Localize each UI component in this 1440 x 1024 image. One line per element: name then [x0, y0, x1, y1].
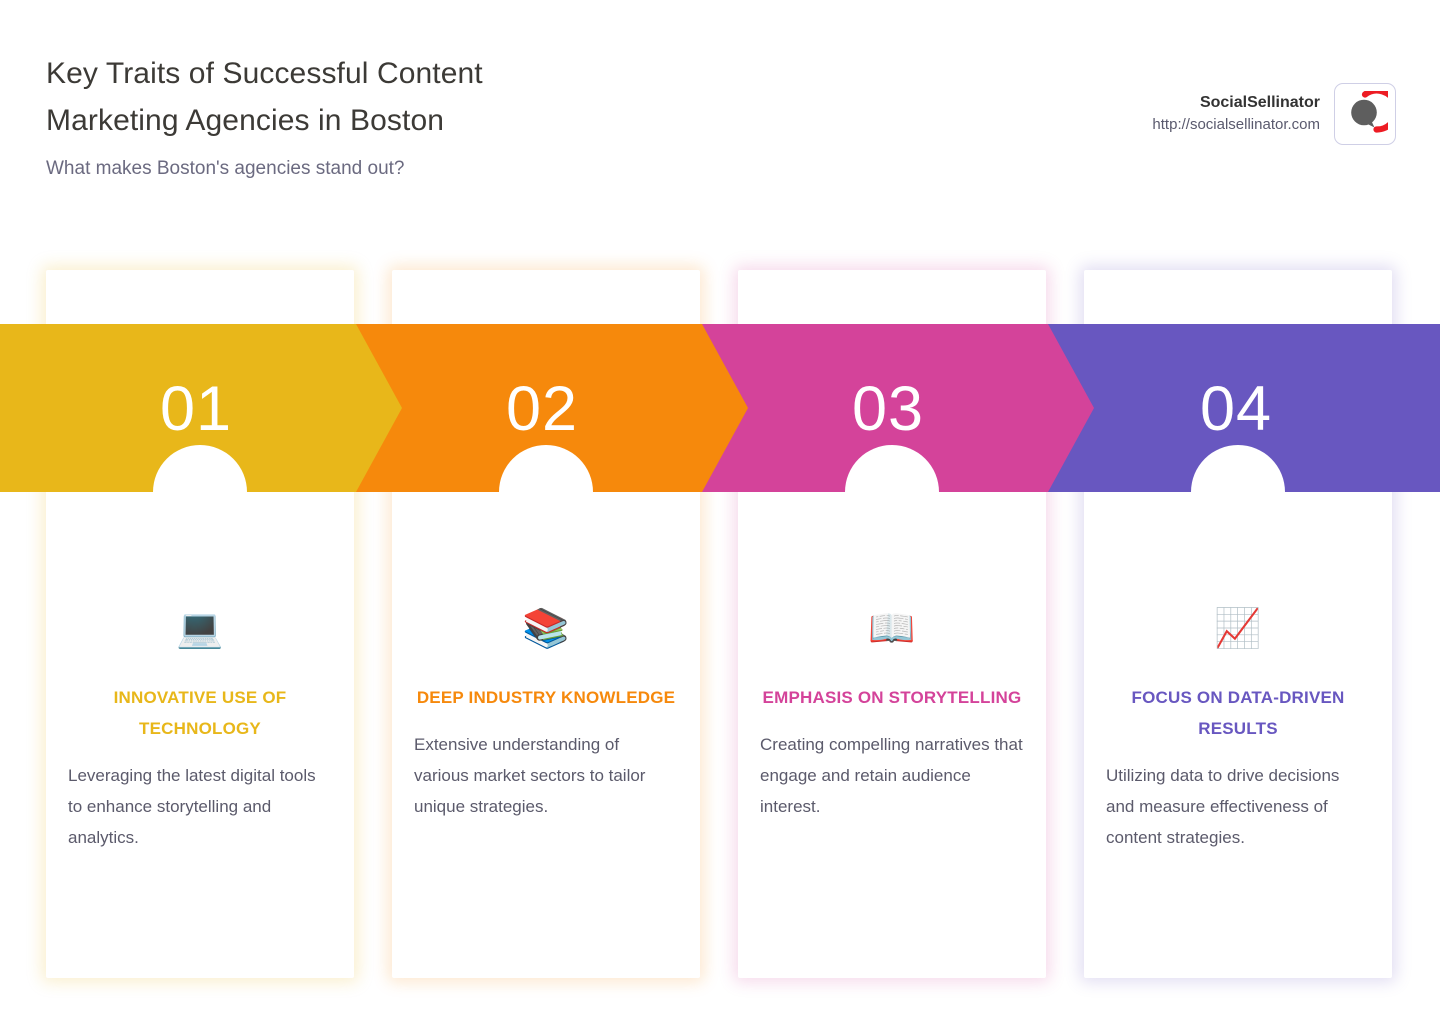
brand-block: SocialSellinator http://socialsellinator… — [1152, 83, 1396, 145]
step-card-4-heading: FOCUS ON DATA-DRIVEN RESULTS — [1106, 682, 1370, 744]
step-card-1-body: 💻 INNOVATIVE USE OF TECHNOLOGY Leveragin… — [46, 600, 354, 853]
page-title: Key Traits of Successful Content Marketi… — [46, 50, 806, 144]
cards-row: 💻 INNOVATIVE USE OF TECHNOLOGY Leveragin… — [0, 270, 1440, 982]
laptop-icon: 💻 — [68, 600, 332, 658]
step-card-4-text: Utilizing data to drive decisions and me… — [1106, 760, 1370, 853]
step-card-3[interactable]: 📖 EMPHASIS ON STORYTELLING Creating comp… — [738, 270, 1046, 978]
step-card-1-text: Leveraging the latest digital tools to e… — [68, 760, 332, 853]
page-title-line-2: Marketing Agencies in Boston — [46, 104, 444, 137]
title-block: Key Traits of Successful Content Marketi… — [46, 50, 806, 182]
speech-bubble-ring-icon — [1342, 91, 1388, 137]
step-card-4[interactable]: 📈 FOCUS ON DATA-DRIVEN RESULTS Utilizing… — [1084, 270, 1392, 978]
step-card-4-body: 📈 FOCUS ON DATA-DRIVEN RESULTS Utilizing… — [1084, 600, 1392, 853]
chart-increasing-icon: 📈 — [1106, 600, 1370, 658]
page-title-line-1: Key Traits of Successful Content — [46, 57, 483, 90]
step-card-2[interactable]: 📚 DEEP INDUSTRY KNOWLEDGE Extensive unde… — [392, 270, 700, 978]
step-card-1[interactable]: 💻 INNOVATIVE USE OF TECHNOLOGY Leveragin… — [46, 270, 354, 978]
brand-text: SocialSellinator http://socialsellinator… — [1152, 92, 1320, 136]
open-book-icon: 📖 — [760, 600, 1024, 658]
step-card-2-text: Extensive understanding of various marke… — [414, 729, 678, 822]
page-subtitle: What makes Boston's agencies stand out? — [46, 156, 806, 182]
step-card-2-body: 📚 DEEP INDUSTRY KNOWLEDGE Extensive unde… — [392, 600, 700, 822]
infographic-page: Key Traits of Successful Content Marketi… — [0, 0, 1440, 1024]
step-card-3-text: Creating compelling narratives that enga… — [760, 729, 1024, 822]
header: Key Traits of Successful Content Marketi… — [0, 0, 1440, 250]
step-card-2-heading: DEEP INDUSTRY KNOWLEDGE — [414, 682, 678, 713]
step-card-3-body: 📖 EMPHASIS ON STORYTELLING Creating comp… — [738, 600, 1046, 822]
brand-url[interactable]: http://socialsellinator.com — [1152, 114, 1320, 136]
brand-logo — [1334, 83, 1396, 145]
step-card-3-heading: EMPHASIS ON STORYTELLING — [760, 682, 1024, 713]
brand-name: SocialSellinator — [1152, 92, 1320, 114]
step-card-1-heading: INNOVATIVE USE OF TECHNOLOGY — [68, 682, 332, 744]
books-icon: 📚 — [414, 600, 678, 658]
